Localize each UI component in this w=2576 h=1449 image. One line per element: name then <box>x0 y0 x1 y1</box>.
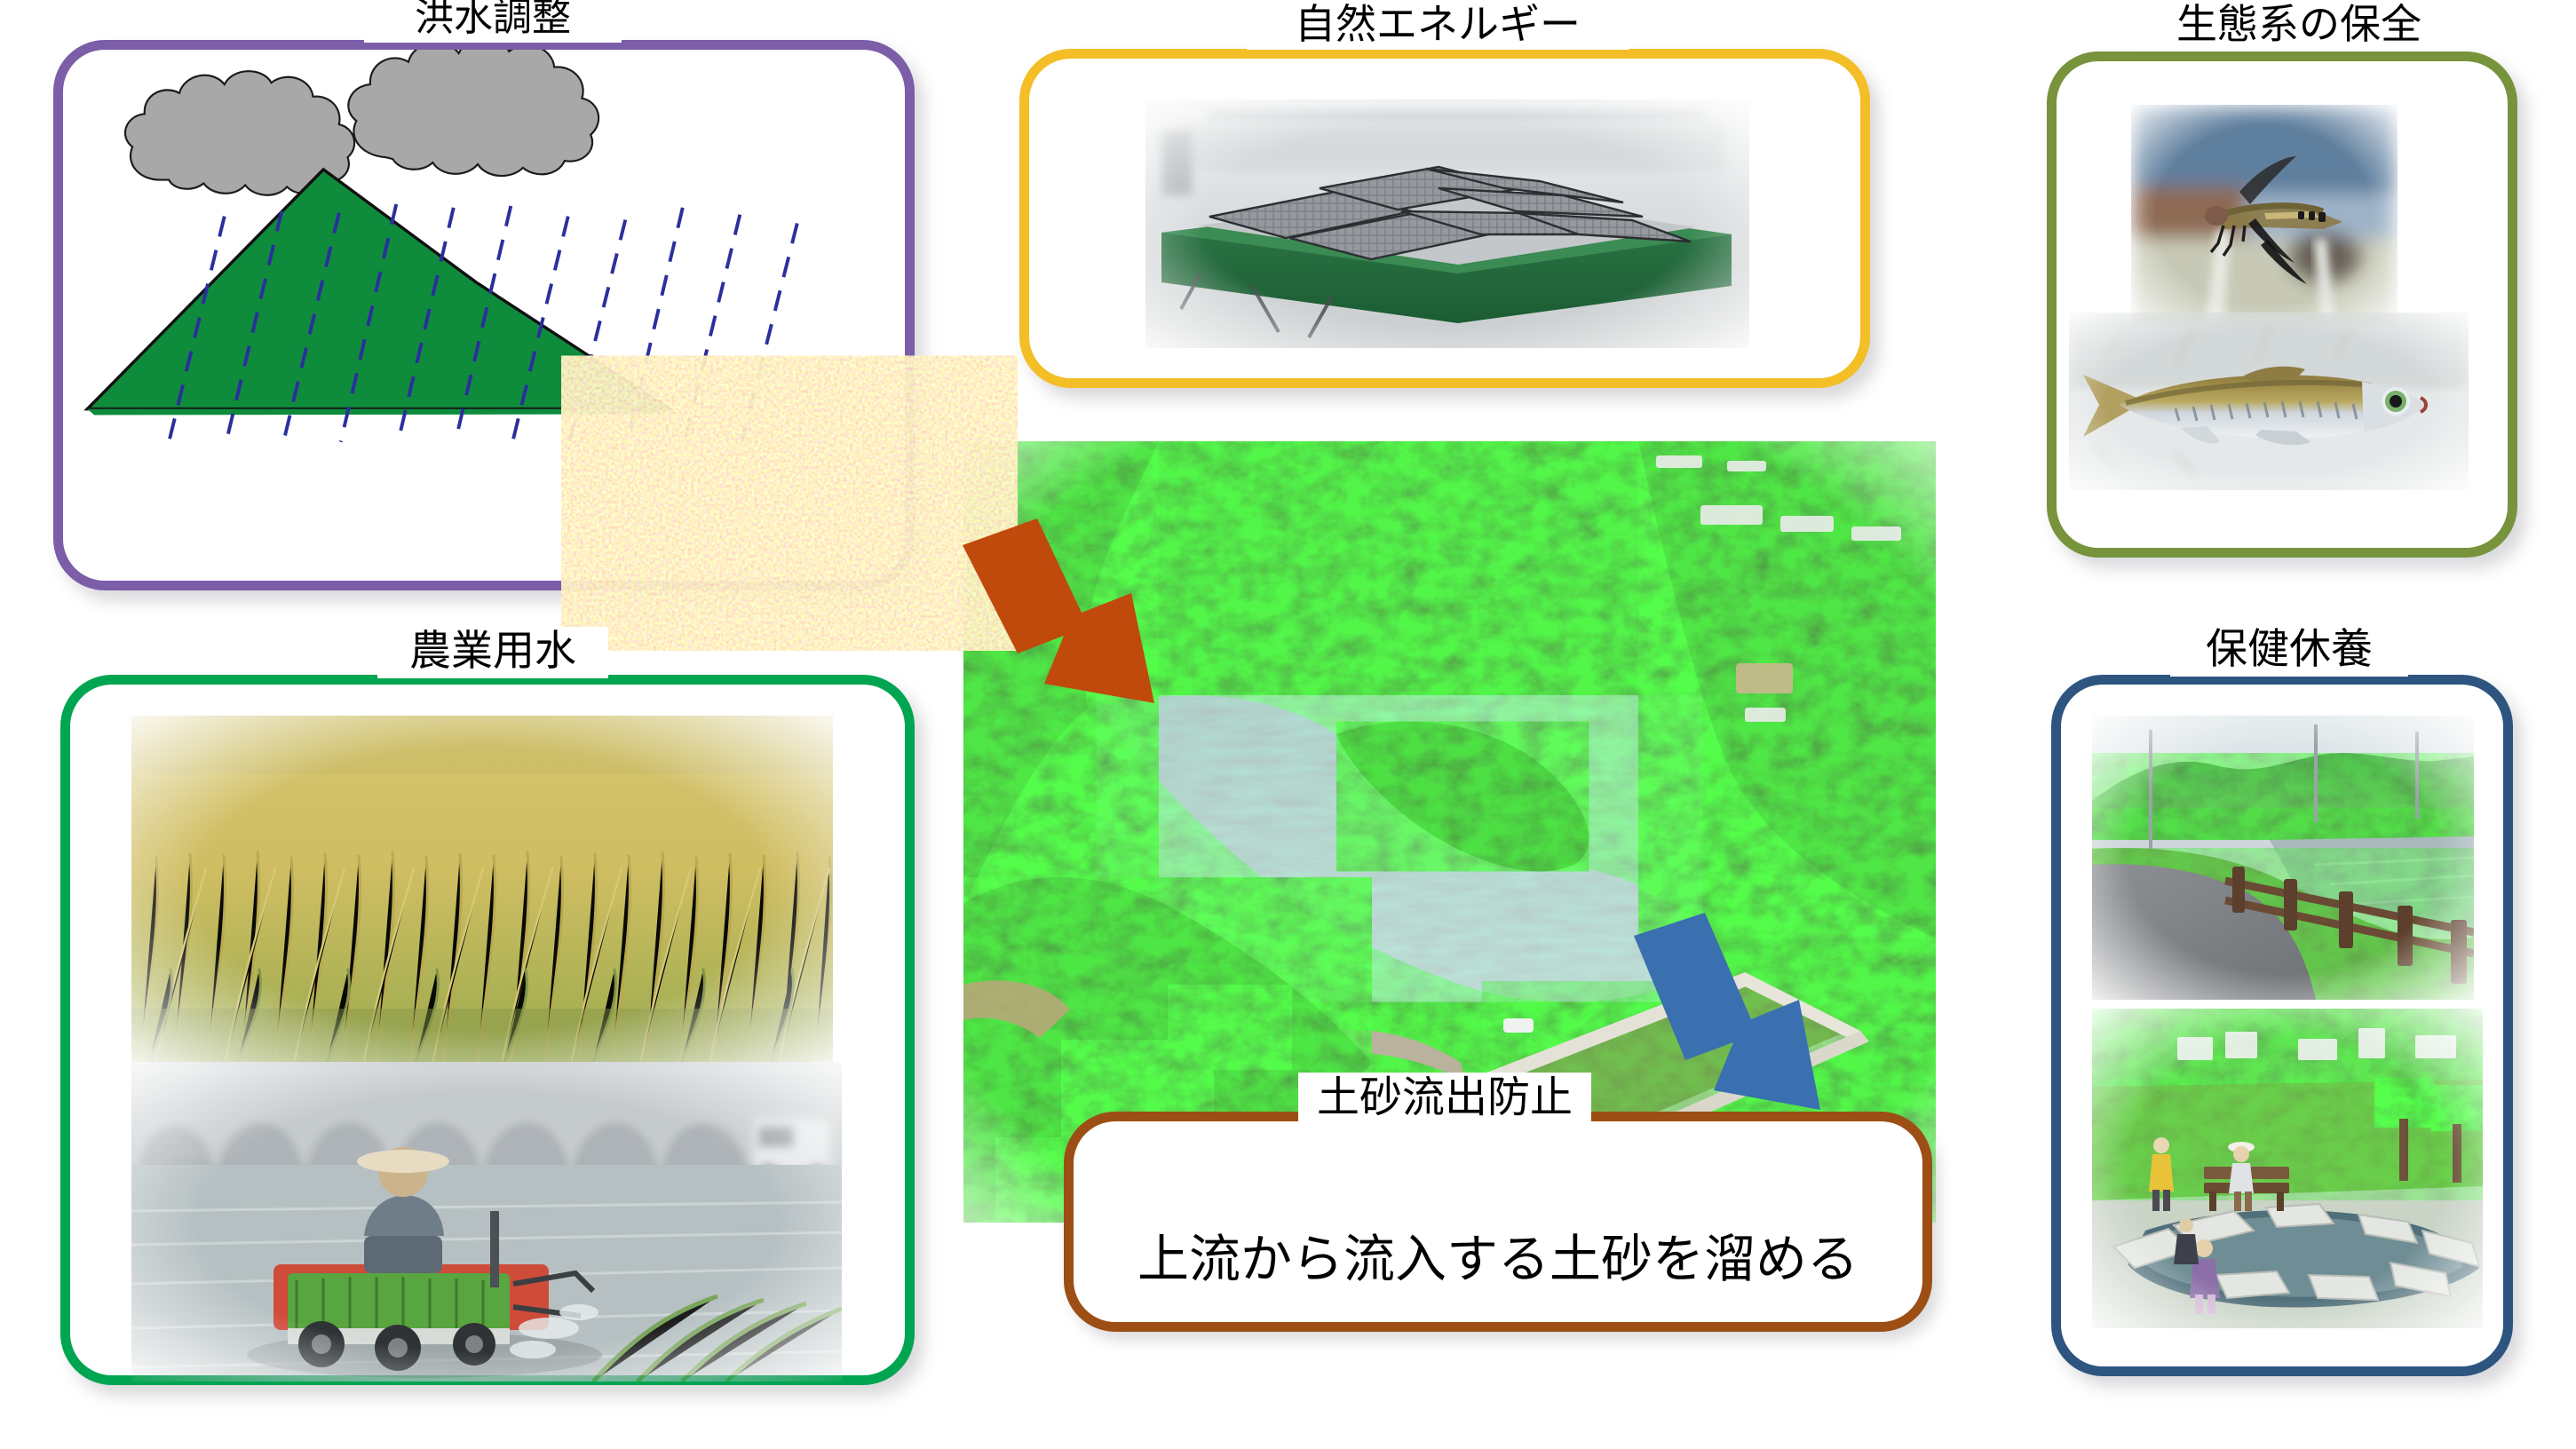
panel-sediment-prevention-caption: 土砂流出防止 <box>1298 1073 1591 1126</box>
lakeside-walking-path-photo <box>2092 716 2474 1000</box>
panel-natural-energy-caption: 自然エネルギー <box>1247 0 1629 50</box>
small-fish-photo <box>2069 313 2469 490</box>
panel-agricultural-water-label: 農業用水 <box>409 627 576 676</box>
panel-flood-control[interactable] <box>53 40 915 590</box>
panel-agricultural-water-caption: 農業用水 <box>377 627 608 678</box>
panel-sediment-prevention-body: 上流から流入する土砂を溜める <box>1074 1121 1922 1322</box>
panel-flood-control-caption: 洪水調整 <box>364 0 622 43</box>
dragonfly-photo <box>2131 105 2398 327</box>
panel-flood-control-body <box>63 50 905 581</box>
panel-natural-energy-label: 自然エネルギー <box>1295 0 1581 48</box>
panel-sediment-prevention-text: 上流から流入する土砂を溜める <box>1137 1217 1859 1292</box>
panel-ecosystem-conservation-label: 生態系の保全 <box>2176 0 2421 48</box>
ripe-rice-field-photo <box>131 716 833 1062</box>
rice-transplanter-photo <box>131 1062 842 1382</box>
solar-panel-array-photo <box>1145 99 1749 348</box>
diagram-canvas: 洪水調整 <box>0 0 2576 1449</box>
panel-sediment-prevention-label: 土砂流出防止 <box>1317 1073 1573 1122</box>
panel-health-recreation-label: 保健休養 <box>2206 625 2373 674</box>
waterside-park-children-photo <box>2092 1009 2483 1328</box>
panel-flood-control-label: 洪水調整 <box>415 0 571 40</box>
panel-health-recreation-caption: 保健休養 <box>2170 625 2408 677</box>
panel-sediment-prevention[interactable]: 上流から流入する土砂を溜める <box>1064 1112 1932 1332</box>
rain-cloud-mountain-illustration <box>63 50 905 581</box>
panel-ecosystem-conservation-caption: 生態系の保全 <box>2135 0 2463 50</box>
